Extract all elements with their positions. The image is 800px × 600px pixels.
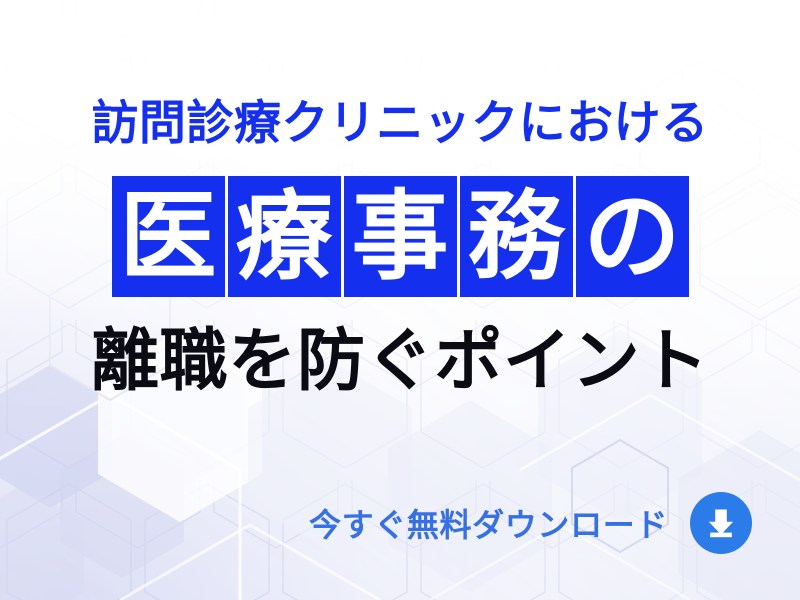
cta-group[interactable]: 今すぐ無料ダウンロード xyxy=(0,492,800,554)
boxed-char: 務 xyxy=(460,176,573,297)
promotional-banner: 訪問診療クリニックにおける 医 療 事 務 の 離職を防ぐポイント 今すぐ無料ダ… xyxy=(0,0,800,600)
boxed-char: 事 xyxy=(344,176,457,297)
banner-content: 訪問診療クリニックにおける 医 療 事 務 の 離職を防ぐポイント 今すぐ無料ダ… xyxy=(0,0,800,600)
boxed-char: 療 xyxy=(228,176,341,297)
download-circle-icon[interactable] xyxy=(690,492,752,554)
cta-label[interactable]: 今すぐ無料ダウンロード xyxy=(309,500,668,546)
boxed-char: 医 xyxy=(112,176,225,297)
headline-line-1: 訪問診療クリニックにおける xyxy=(0,96,800,150)
boxed-char: の xyxy=(576,176,689,297)
headline-line-2-boxed: 医 療 事 務 の xyxy=(0,176,800,297)
headline-line-3: 離職を防ぐポイント xyxy=(0,322,800,400)
